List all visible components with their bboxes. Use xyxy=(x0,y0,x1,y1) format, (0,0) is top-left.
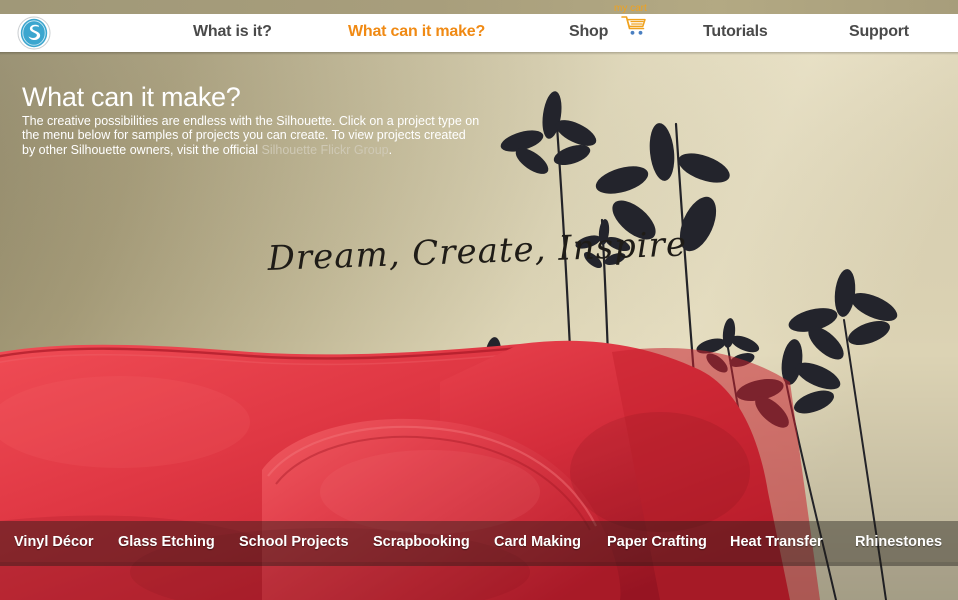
silhouette-s-logo-icon[interactable] xyxy=(16,15,52,51)
nav-item-what-is-it[interactable]: What is it? xyxy=(193,23,272,41)
category-scrapbooking[interactable]: Scrapbooking xyxy=(373,534,470,550)
category-heat-transfer[interactable]: Heat Transfer xyxy=(730,534,823,550)
nav-item-tutorials[interactable]: Tutorials xyxy=(703,23,768,41)
hero-description-part1: The creative possibilities are endless w… xyxy=(22,114,479,157)
hero-copy-block: What can it make? The creative possibili… xyxy=(22,84,482,157)
my-cart-label: my cart xyxy=(614,3,647,14)
category-school-projects[interactable]: School Projects xyxy=(239,534,349,550)
page-root: What is it? What can it make? Shop my ca… xyxy=(0,0,958,600)
hero-description: The creative possibilities are endless w… xyxy=(22,114,482,158)
shopping-cart-icon xyxy=(621,15,651,37)
category-vinyl-decor[interactable]: Vinyl Décor xyxy=(14,534,94,550)
page-title: What can it make? xyxy=(22,84,482,112)
hero-photo: Dream, Create, Inspire xyxy=(0,52,958,600)
top-strip xyxy=(0,0,958,14)
nav-item-support[interactable]: Support xyxy=(849,23,909,41)
category-rhinestones[interactable]: Rhinestones xyxy=(855,534,942,550)
nav-drop-shadow xyxy=(0,52,958,55)
nav-item-shop[interactable]: Shop xyxy=(569,23,608,41)
category-card-making[interactable]: Card Making xyxy=(494,534,581,550)
category-glass-etching[interactable]: Glass Etching xyxy=(118,534,215,550)
silhouette-flickr-group-link[interactable]: Silhouette Flickr Group xyxy=(261,143,388,157)
my-cart-button[interactable]: my cart xyxy=(612,3,664,43)
category-paper-crafting[interactable]: Paper Crafting xyxy=(607,534,707,550)
nav-item-what-can-it-make[interactable]: What can it make? xyxy=(348,23,485,41)
hero-description-part2: . xyxy=(389,143,392,157)
category-navigation-bar: Vinyl Décor Glass Etching School Project… xyxy=(0,521,958,566)
main-navigation-bar: What is it? What can it make? Shop my ca… xyxy=(0,14,958,52)
